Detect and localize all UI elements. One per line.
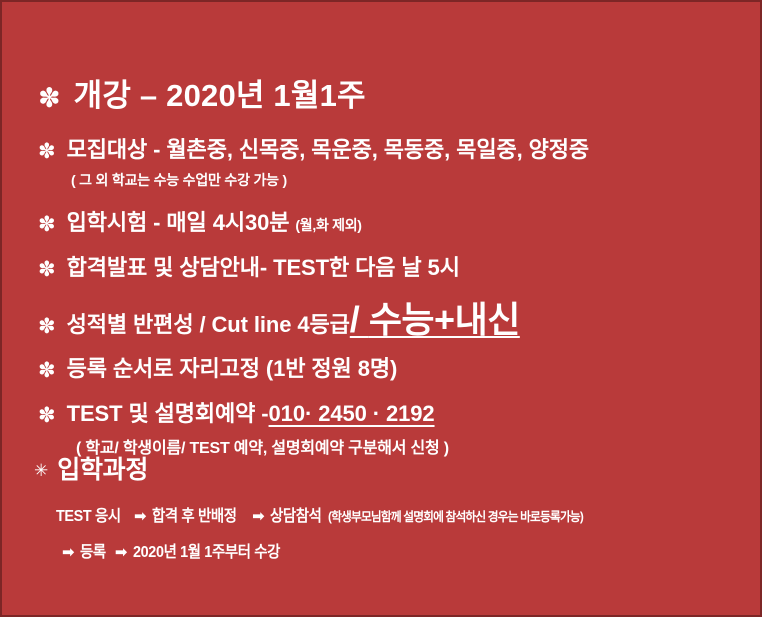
accent-text: 수능+내신 bbox=[369, 299, 520, 340]
process-step-4: 등록 bbox=[80, 538, 106, 562]
info-row-target-schools: ✽ 모집대상 - 월촌중, 신목중, 목운중, 목동중, 목일중, 양정중 bbox=[38, 132, 750, 164]
entrance-exam-note: (월,화 제외) bbox=[295, 215, 361, 235]
asterisk-icon: ✽ bbox=[38, 360, 56, 381]
info-row-class-placement: ✽ 성적별 반편성 / Cut line 4등급 / 수능+내신 bbox=[38, 302, 750, 339]
poster-root: ✽ 개강 – 2020년 1월1주 ✽ 모집대상 - 월촌중, 신목중, 목운중… bbox=[0, 0, 762, 617]
process-steps-line-2: ➡ 등록 ➡ 2020년 1월 1주부터 수강 bbox=[56, 538, 750, 562]
page-title: 개강 – 2020년 1월1주 bbox=[74, 70, 366, 115]
asterisk-small-icon: ✳ bbox=[34, 462, 48, 479]
asterisk-icon: ✽ bbox=[38, 405, 56, 426]
target-schools-text: 모집대상 - 월촌중, 신목중, 목운중, 목동중, 목일중, 양정중 bbox=[67, 132, 589, 164]
entrance-exam-text: 입학시험 - 매일 4시30분 bbox=[67, 205, 290, 237]
process-step-3: 상담참석 bbox=[270, 502, 322, 526]
asterisk-icon: ✽ bbox=[38, 85, 61, 112]
phone-number[interactable]: 010· 2450 · 2192 bbox=[269, 401, 435, 427]
info-row-results-announcement: ✽ 합격발표 및 상담안내- TEST한 다음 날 5시 bbox=[38, 250, 750, 282]
process-title-row: ✳ 입학과정 bbox=[34, 450, 750, 486]
asterisk-icon: ✽ bbox=[38, 316, 56, 337]
asterisk-icon: ✽ bbox=[38, 141, 56, 162]
process-step-1: TEST 응시 bbox=[56, 502, 121, 526]
info-row-seat-fixing: ✽ 등록 순서로 자리고정 (1반 정원 8명) bbox=[38, 351, 750, 383]
main-info-block: ✽ 개강 – 2020년 1월1주 ✽ 모집대상 - 월촌중, 신목중, 목운중… bbox=[38, 70, 750, 458]
process-steps-line-1: TEST 응시 ➡ 합격 후 반배정 ➡ 상담참석 (학생부모님함께 설명회에 … bbox=[56, 502, 750, 526]
results-announcement-text: 합격발표 및 상담안내- TEST한 다음 날 5시 bbox=[67, 250, 460, 282]
reservation-label: TEST 및 설명회예약 - bbox=[67, 396, 269, 428]
info-row-reservation: ✽ TEST 및 설명회예약 - 010· 2450 · 2192 bbox=[38, 396, 750, 428]
accent-slash: / bbox=[350, 299, 369, 340]
seat-fixing-text: 등록 순서로 자리고정 (1반 정원 8명) bbox=[67, 351, 398, 383]
process-step-5: 2020년 1월 1주부터 수강 bbox=[133, 538, 280, 562]
admission-process-block: ✳ 입학과정 TEST 응시 ➡ 합격 후 반배정 ➡ 상담참석 (학생부모님함… bbox=[34, 450, 750, 574]
class-placement-text: 성적별 반편성 / Cut line 4등급 bbox=[67, 307, 350, 339]
info-row-entrance-exam: ✽ 입학시험 - 매일 4시30분 (월,화 제외) bbox=[38, 205, 750, 237]
note-other-schools: ( 그 외 학교는 수능 수업만 수강 가능 ) bbox=[71, 170, 750, 190]
arrow-right-icon: ➡ bbox=[252, 509, 264, 524]
asterisk-icon: ✽ bbox=[38, 259, 56, 280]
arrow-right-icon: ➡ bbox=[134, 509, 146, 524]
arrow-right-icon: ➡ bbox=[62, 545, 74, 560]
process-step-3-note: (학생부모님함께 설명회에 참석하신 경우는 바로등록가능) bbox=[328, 506, 583, 525]
page-title-row: ✽ 개강 – 2020년 1월1주 bbox=[38, 70, 750, 115]
asterisk-icon: ✽ bbox=[38, 214, 56, 235]
arrow-right-icon: ➡ bbox=[115, 545, 127, 560]
accent-highlight-group: / 수능+내신 bbox=[350, 302, 520, 338]
process-step-2: 합격 후 반배정 bbox=[152, 502, 237, 526]
process-title: 입학과정 bbox=[57, 450, 148, 486]
